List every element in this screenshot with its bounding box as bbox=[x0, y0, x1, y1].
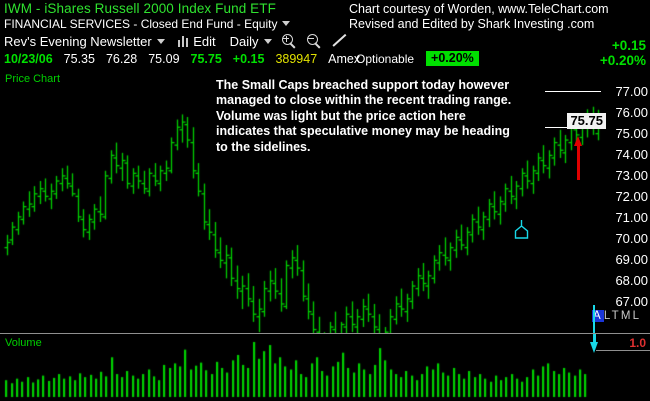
timeframe-dropdown[interactable]: Daily bbox=[230, 34, 272, 49]
quote-date: 10/23/06 bbox=[4, 52, 53, 66]
sector-line[interactable]: FINANCIAL SERVICES - Closed End Fund - E… bbox=[4, 17, 290, 31]
axis-tick: 77.00 bbox=[602, 85, 648, 98]
price-axis: 77.00 76.00 75.00 74.00 73.00 72.00 71.0… bbox=[602, 68, 648, 333]
quote-row: 10/23/06 75.35 76.28 75.09 75.75 +0.15 3… bbox=[4, 51, 371, 67]
axis-tick: 70.00 bbox=[602, 232, 648, 245]
chevron-down-icon[interactable] bbox=[282, 21, 290, 26]
optionable-label: Optionable bbox=[356, 52, 414, 66]
volume-baseline bbox=[596, 350, 650, 351]
newsletter-label: Rev's Evening Newsletter bbox=[4, 34, 152, 49]
resistance-line bbox=[545, 91, 601, 92]
sector-label: FINANCIAL SERVICES - Closed End Fund - E… bbox=[4, 17, 277, 31]
quote-volume: 389947 bbox=[275, 52, 317, 66]
toolbar: Rev's Evening Newsletter Edit Daily bbox=[4, 32, 350, 51]
edit-button[interactable]: Edit bbox=[193, 34, 215, 49]
red-up-arrow-icon bbox=[574, 136, 583, 182]
quote-change: +0.15 bbox=[233, 52, 265, 66]
house-marker-icon bbox=[513, 219, 530, 239]
percent-badge: +0.20% bbox=[426, 51, 479, 66]
axis-tick: 76.00 bbox=[602, 106, 648, 119]
axis-tick: 73.00 bbox=[602, 169, 648, 182]
change-summary: +0.15 +0.20% bbox=[600, 38, 646, 68]
chevron-down-icon[interactable] bbox=[264, 39, 272, 44]
courtesy-line-2: Revised and Edited by Shark Investing .c… bbox=[349, 17, 609, 32]
price-pane-label: Price Chart bbox=[5, 73, 60, 85]
indicator-tabs[interactable]: ALTML bbox=[592, 310, 641, 322]
courtesy-line-1: Chart courtesy of Worden, www.TeleChart.… bbox=[349, 2, 609, 17]
quote-open: 75.35 bbox=[64, 52, 95, 66]
zoom-in-icon[interactable] bbox=[282, 34, 297, 49]
bar-chart-icon[interactable] bbox=[178, 36, 189, 47]
volume-pane[interactable]: Volume 1.0 bbox=[0, 334, 650, 401]
current-price-box: 75.75 bbox=[567, 113, 606, 129]
axis-tick: 74.00 bbox=[602, 148, 648, 161]
chevron-down-icon[interactable] bbox=[157, 39, 165, 44]
quote-high: 76.28 bbox=[106, 52, 137, 66]
change-percent: +0.20% bbox=[600, 53, 646, 68]
tab-l[interactable]: L bbox=[604, 310, 612, 322]
quote-last: 75.75 bbox=[191, 52, 222, 66]
zoom-out-icon[interactable] bbox=[307, 34, 322, 49]
symbol-title: IWM - iShares Russell 2000 Index Fund ET… bbox=[4, 1, 276, 16]
axis-tick: 67.00 bbox=[602, 295, 648, 308]
axis-tick: 72.00 bbox=[602, 190, 648, 203]
optionable-group: Optionable +0.20% bbox=[356, 51, 479, 66]
volume-value: 1.0 bbox=[629, 336, 646, 350]
tab-m[interactable]: M bbox=[621, 310, 633, 322]
axis-tick: 71.00 bbox=[602, 211, 648, 224]
courtesy-credit: Chart courtesy of Worden, www.TeleChart.… bbox=[349, 2, 609, 32]
timeframe-label: Daily bbox=[230, 34, 259, 49]
cyan-cursor-line-lower bbox=[593, 334, 595, 348]
tab-l2[interactable]: L bbox=[633, 310, 642, 322]
quote-low: 75.09 bbox=[148, 52, 179, 66]
newsletter-dropdown[interactable]: Rev's Evening Newsletter bbox=[4, 34, 165, 49]
axis-tick: 68.00 bbox=[602, 274, 648, 287]
tab-t[interactable]: T bbox=[612, 310, 621, 322]
telechart-window: IWM - iShares Russell 2000 Index Fund ET… bbox=[0, 0, 650, 401]
change-value: +0.15 bbox=[600, 38, 646, 53]
volume-pane-label: Volume bbox=[5, 337, 42, 349]
axis-tick: 69.00 bbox=[602, 253, 648, 266]
pencil-icon[interactable] bbox=[332, 34, 350, 49]
price-pane[interactable]: Price Chart The Small Caps breached supp… bbox=[0, 68, 650, 333]
volume-chart-canvas[interactable] bbox=[0, 334, 650, 401]
header-bar: IWM - iShares Russell 2000 Index Fund ET… bbox=[0, 0, 650, 68]
cyan-cursor-line bbox=[593, 305, 595, 333]
chart-annotation-text: The Small Caps breached support today ho… bbox=[216, 78, 516, 155]
axis-tick: 75.00 bbox=[602, 127, 648, 140]
